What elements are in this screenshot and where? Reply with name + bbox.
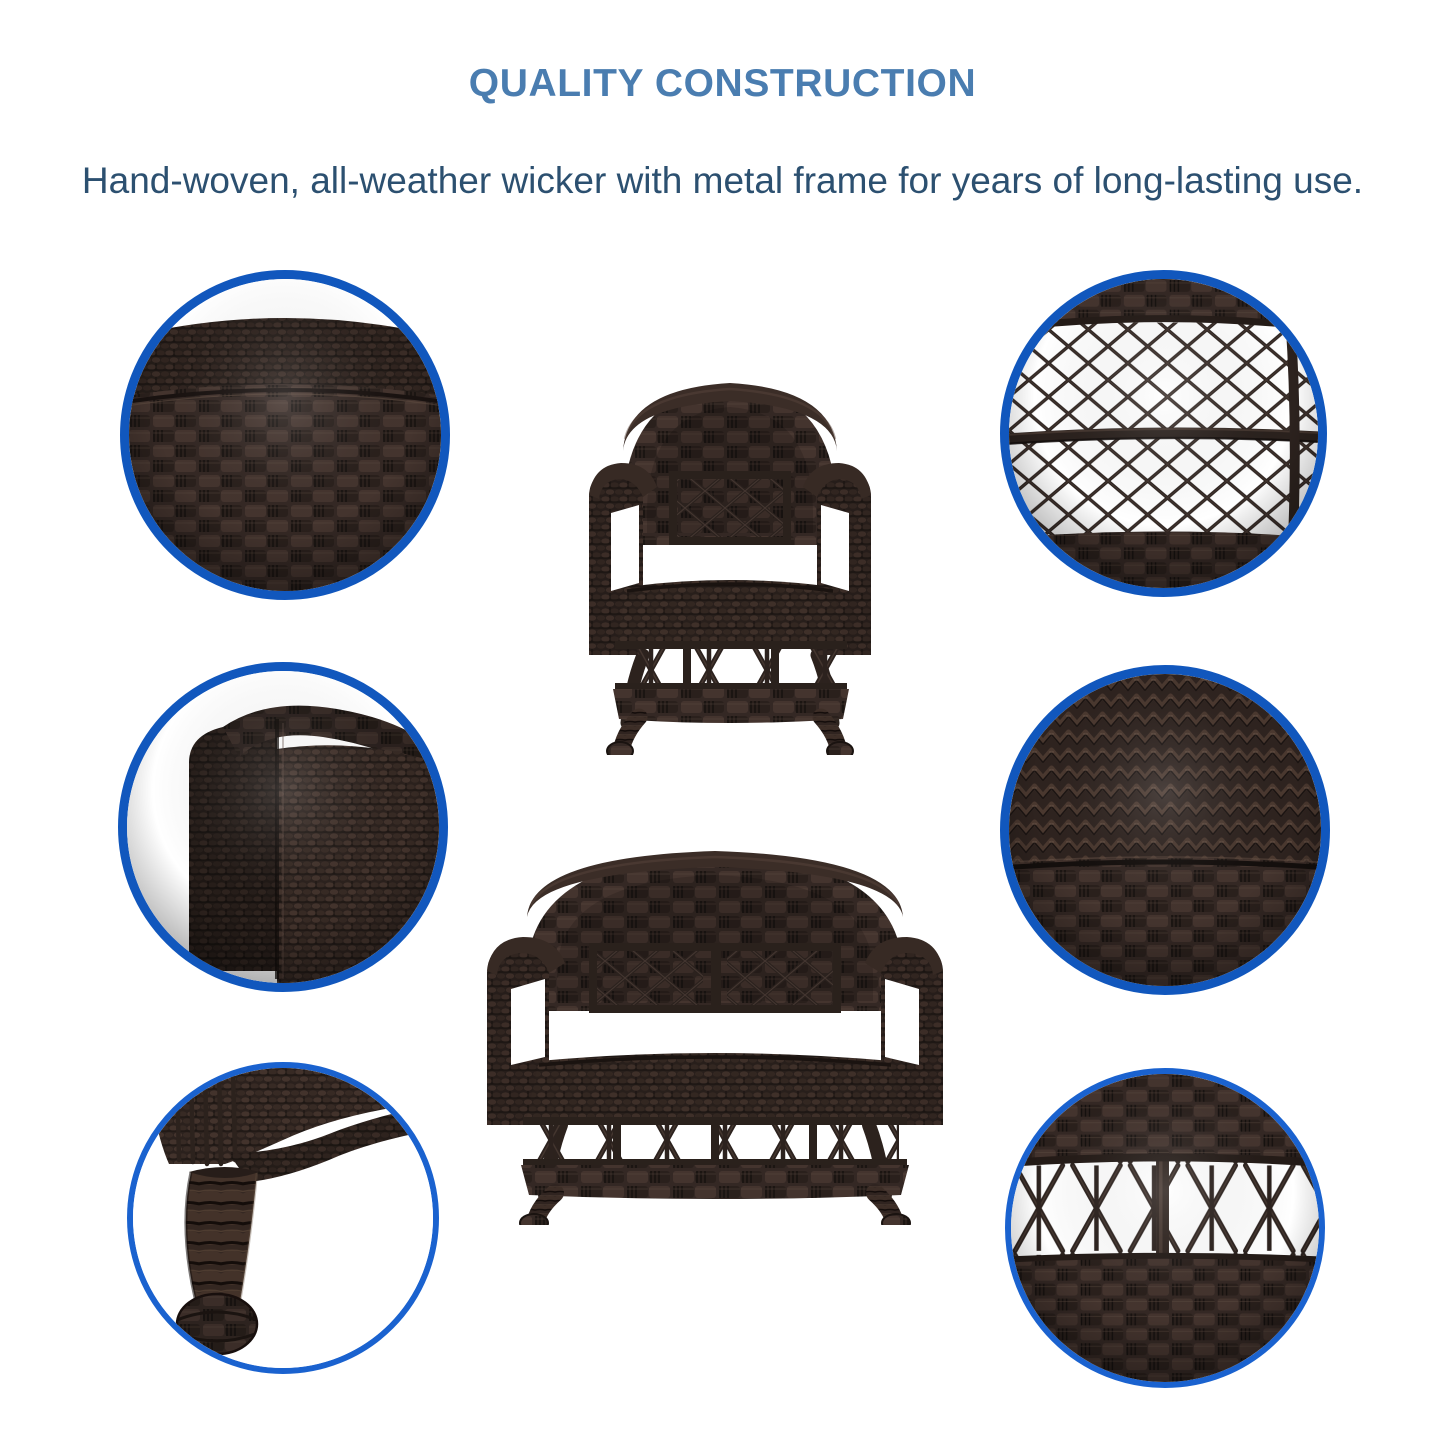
wrapped-leg-illustration [133, 1068, 433, 1368]
diamond-lattice-illustration [1009, 279, 1318, 588]
detail-circle-diamond-lattice [1000, 270, 1327, 597]
wicker-loveseat [465, 825, 965, 1225]
detail-circle-basket-weave [120, 270, 450, 600]
armrest-corner-illustration [127, 671, 439, 983]
x-lattice-band-illustration [1011, 1074, 1319, 1382]
loveseat-illustration [465, 825, 965, 1225]
detail-circle-x-lattice-band [1005, 1068, 1325, 1388]
detail-circle-wrapped-leg [127, 1062, 439, 1374]
armchair-illustration [565, 355, 895, 755]
basket-weave-illustration [129, 279, 441, 591]
page-title: QUALITY CONSTRUCTION [0, 62, 1445, 106]
page-subtitle: Hand-woven, all-weather wicker with meta… [0, 160, 1445, 202]
wicker-armchair [565, 355, 895, 755]
chevron-weave-illustration [1009, 674, 1321, 986]
detail-circle-chevron-weave [1000, 665, 1330, 995]
detail-circle-armrest-corner [118, 662, 448, 992]
